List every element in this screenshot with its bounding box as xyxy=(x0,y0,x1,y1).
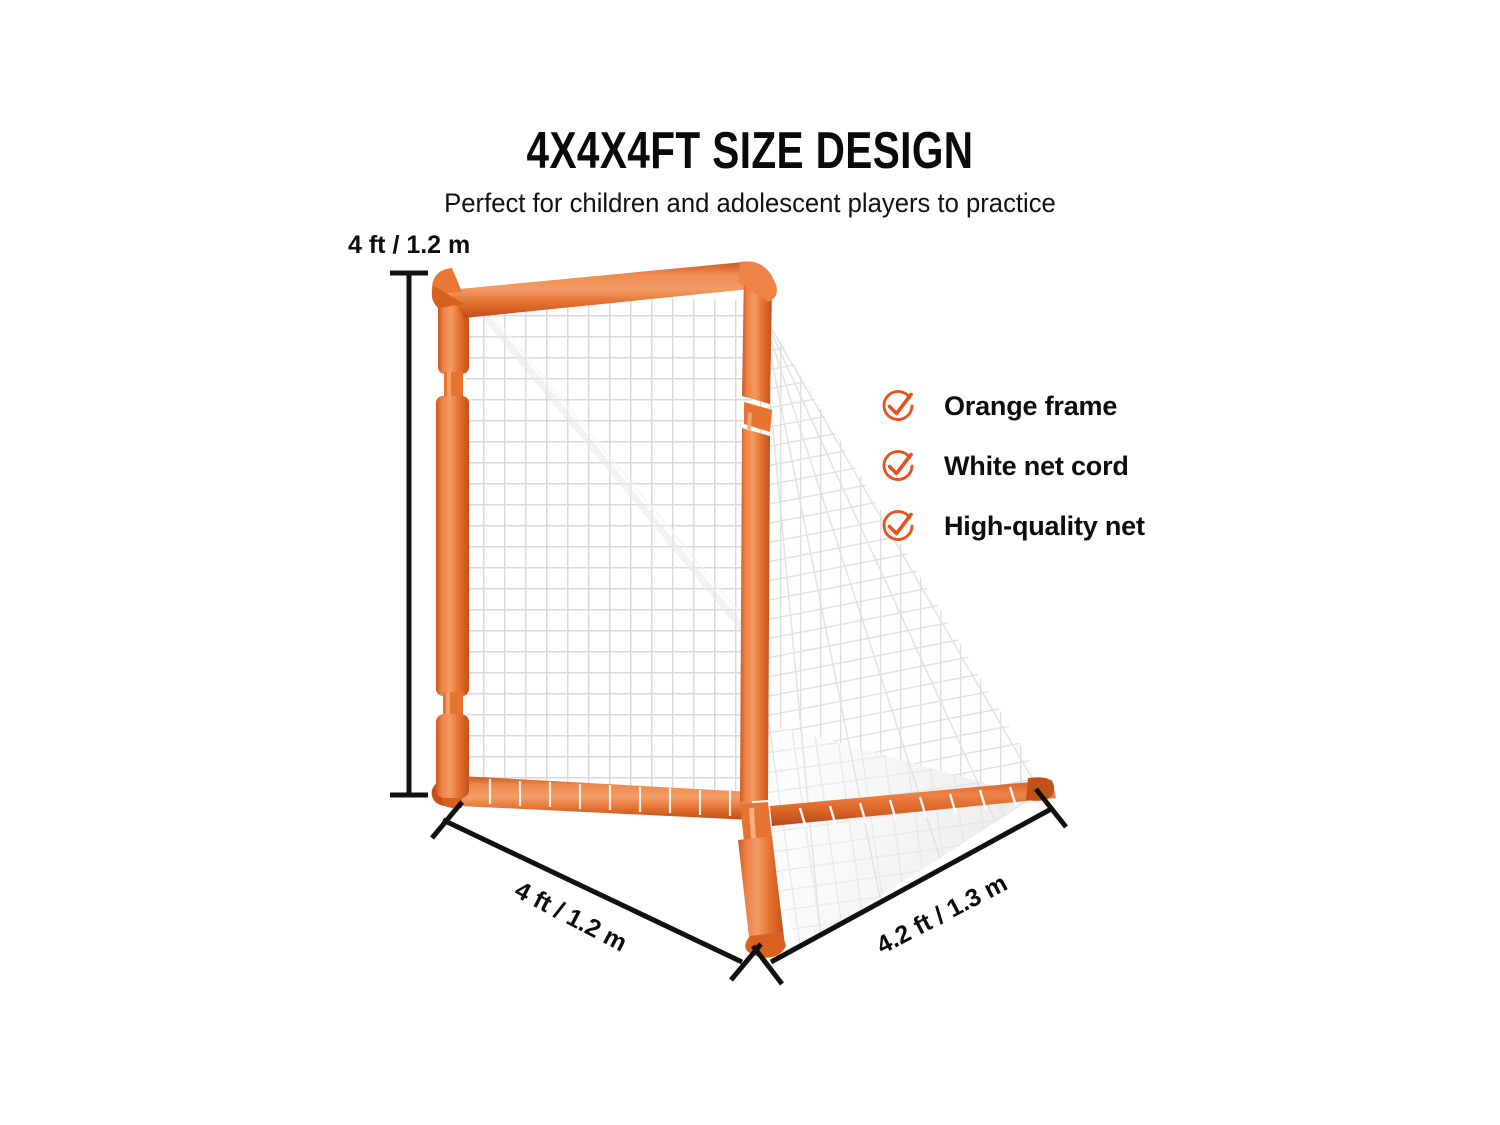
frame-bottom-rear-rail xyxy=(770,777,1056,826)
feature-label: Orange frame xyxy=(944,391,1117,422)
circle-check-icon xyxy=(878,506,918,546)
dimension-label-height: 4 ft / 1.2 m xyxy=(348,231,470,260)
net-fold-highlight xyxy=(472,296,752,640)
frame-bottom-front-rail xyxy=(432,774,752,820)
feature-label: High-quality net xyxy=(944,511,1145,542)
frame-front-foot-post xyxy=(738,802,786,958)
feature-item-white-net-cord: White net cord xyxy=(878,438,1298,494)
feature-item-orange-frame: Orange frame xyxy=(878,378,1298,434)
net-front-panel xyxy=(466,292,752,800)
page-subtitle: Perfect for children and adolescent play… xyxy=(38,186,1463,220)
frame-right-post xyxy=(738,261,777,802)
feature-item-high-quality-net: High-quality net xyxy=(878,498,1298,554)
dimension-line-width xyxy=(432,802,761,980)
circle-check-icon xyxy=(878,386,918,426)
infographic-canvas: 4X4X4FT SIZE DESIGN Perfect for children… xyxy=(0,0,1500,1125)
page-title: 4X4X4FT SIZE DESIGN xyxy=(165,122,1335,180)
feature-list: Orange frame White net cord High-quality… xyxy=(878,378,1298,558)
frame-top-crossbar xyxy=(432,262,760,318)
dimension-line-height xyxy=(390,273,428,795)
dimension-line-depth xyxy=(753,789,1066,984)
net-over-rear-rail xyxy=(800,787,1016,828)
circle-check-icon xyxy=(878,446,918,486)
feature-label: White net cord xyxy=(944,451,1129,482)
frame-left-post xyxy=(436,290,469,798)
dimension-label-depth: 4.2 ft / 1.3 m xyxy=(872,869,1012,961)
net-over-front-rail xyxy=(490,779,730,816)
dimension-label-width: 4 ft / 1.2 m xyxy=(510,876,632,958)
